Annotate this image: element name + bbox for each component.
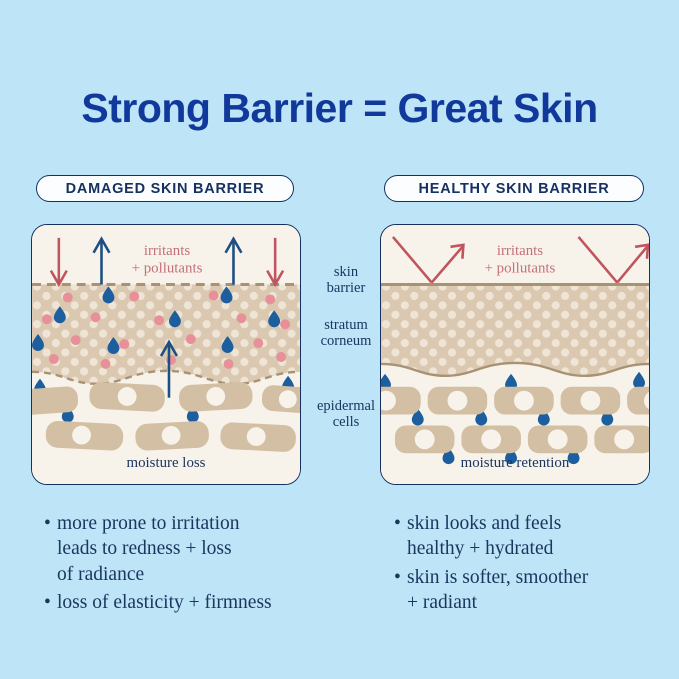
damaged-skin-diagram-card: irritants + pollutants moisture loss (31, 224, 301, 485)
bullet-dot-icon: • (44, 590, 57, 615)
damaged-footer-label: moisture loss (127, 455, 206, 471)
anatomy-label-stratum-corneum: stratum corneum (300, 317, 392, 350)
bullet-text: skin is softer, smoother + radiant (407, 565, 664, 616)
healthy-irritants-label-line1: irritants (497, 243, 543, 259)
bullet-line: skin is softer, smoother (407, 567, 588, 588)
anatomy-label-skin-barrier: skin barrier (300, 264, 392, 297)
damaged-bullet-list: • more prone to irritation leads to redn… (44, 511, 344, 618)
damaged-irritants-label-line1: irritants (144, 243, 190, 259)
pill-healthy-skin-barrier: HEALTHY SKIN BARRIER (384, 175, 644, 202)
anatomy-label-stratum-corneum-line1: stratum (300, 317, 392, 333)
anatomy-label-epidermal-cells: epidermal cells (300, 398, 392, 431)
bullet-line: healthy + hydrated (407, 538, 553, 559)
list-item: • skin is softer, smoother + radiant (394, 565, 664, 616)
anatomy-label-skin-barrier-line1: skin (300, 264, 392, 280)
damaged-irritants-label-line2: + pollutants (132, 261, 203, 277)
bullet-line: of radiance (57, 564, 144, 585)
anatomy-label-epidermal-cells-line2: cells (300, 414, 392, 430)
anatomy-label-skin-barrier-line2: barrier (300, 280, 392, 296)
bullet-line: + radiant (407, 592, 477, 613)
healthy-footer-label: moisture retention (461, 455, 570, 471)
bullet-dot-icon: • (394, 511, 407, 562)
pill-damaged-skin-barrier: DAMAGED SKIN BARRIER (36, 175, 294, 202)
anatomy-label-stratum-corneum-line2: corneum (300, 333, 392, 349)
bullet-dot-icon: • (44, 511, 57, 587)
bullet-line: skin looks and feels (407, 513, 561, 534)
bullet-line: loss of elasticity + firmness (57, 592, 272, 613)
infographic-page: Strong Barrier = Great Skin DAMAGED SKIN… (0, 0, 679, 679)
bullet-line: more prone to irritation (57, 513, 240, 534)
list-item: • loss of elasticity + firmness (44, 590, 344, 615)
healthy-skin-diagram-card: irritants + pollutants moisture retentio… (380, 224, 650, 485)
healthy-bullet-list: • skin looks and feels healthy + hydrate… (394, 511, 664, 618)
bullet-line: leads to redness + loss (57, 538, 232, 559)
bullet-dot-icon: • (394, 565, 407, 616)
pill-damaged-label: DAMAGED SKIN BARRIER (66, 181, 265, 197)
list-item: • more prone to irritation leads to redn… (44, 511, 344, 587)
healthy-irritants-label-line2: + pollutants (485, 261, 556, 277)
bullet-text: skin looks and feels healthy + hydrated (407, 511, 664, 562)
pill-healthy-label: HEALTHY SKIN BARRIER (419, 181, 610, 197)
page-title: Strong Barrier = Great Skin (0, 85, 679, 132)
anatomy-label-epidermal-cells-line1: epidermal (300, 398, 392, 414)
list-item: • skin looks and feels healthy + hydrate… (394, 511, 664, 562)
bullet-text: more prone to irritation leads to rednes… (57, 511, 344, 587)
bullet-text: loss of elasticity + firmness (57, 590, 344, 615)
